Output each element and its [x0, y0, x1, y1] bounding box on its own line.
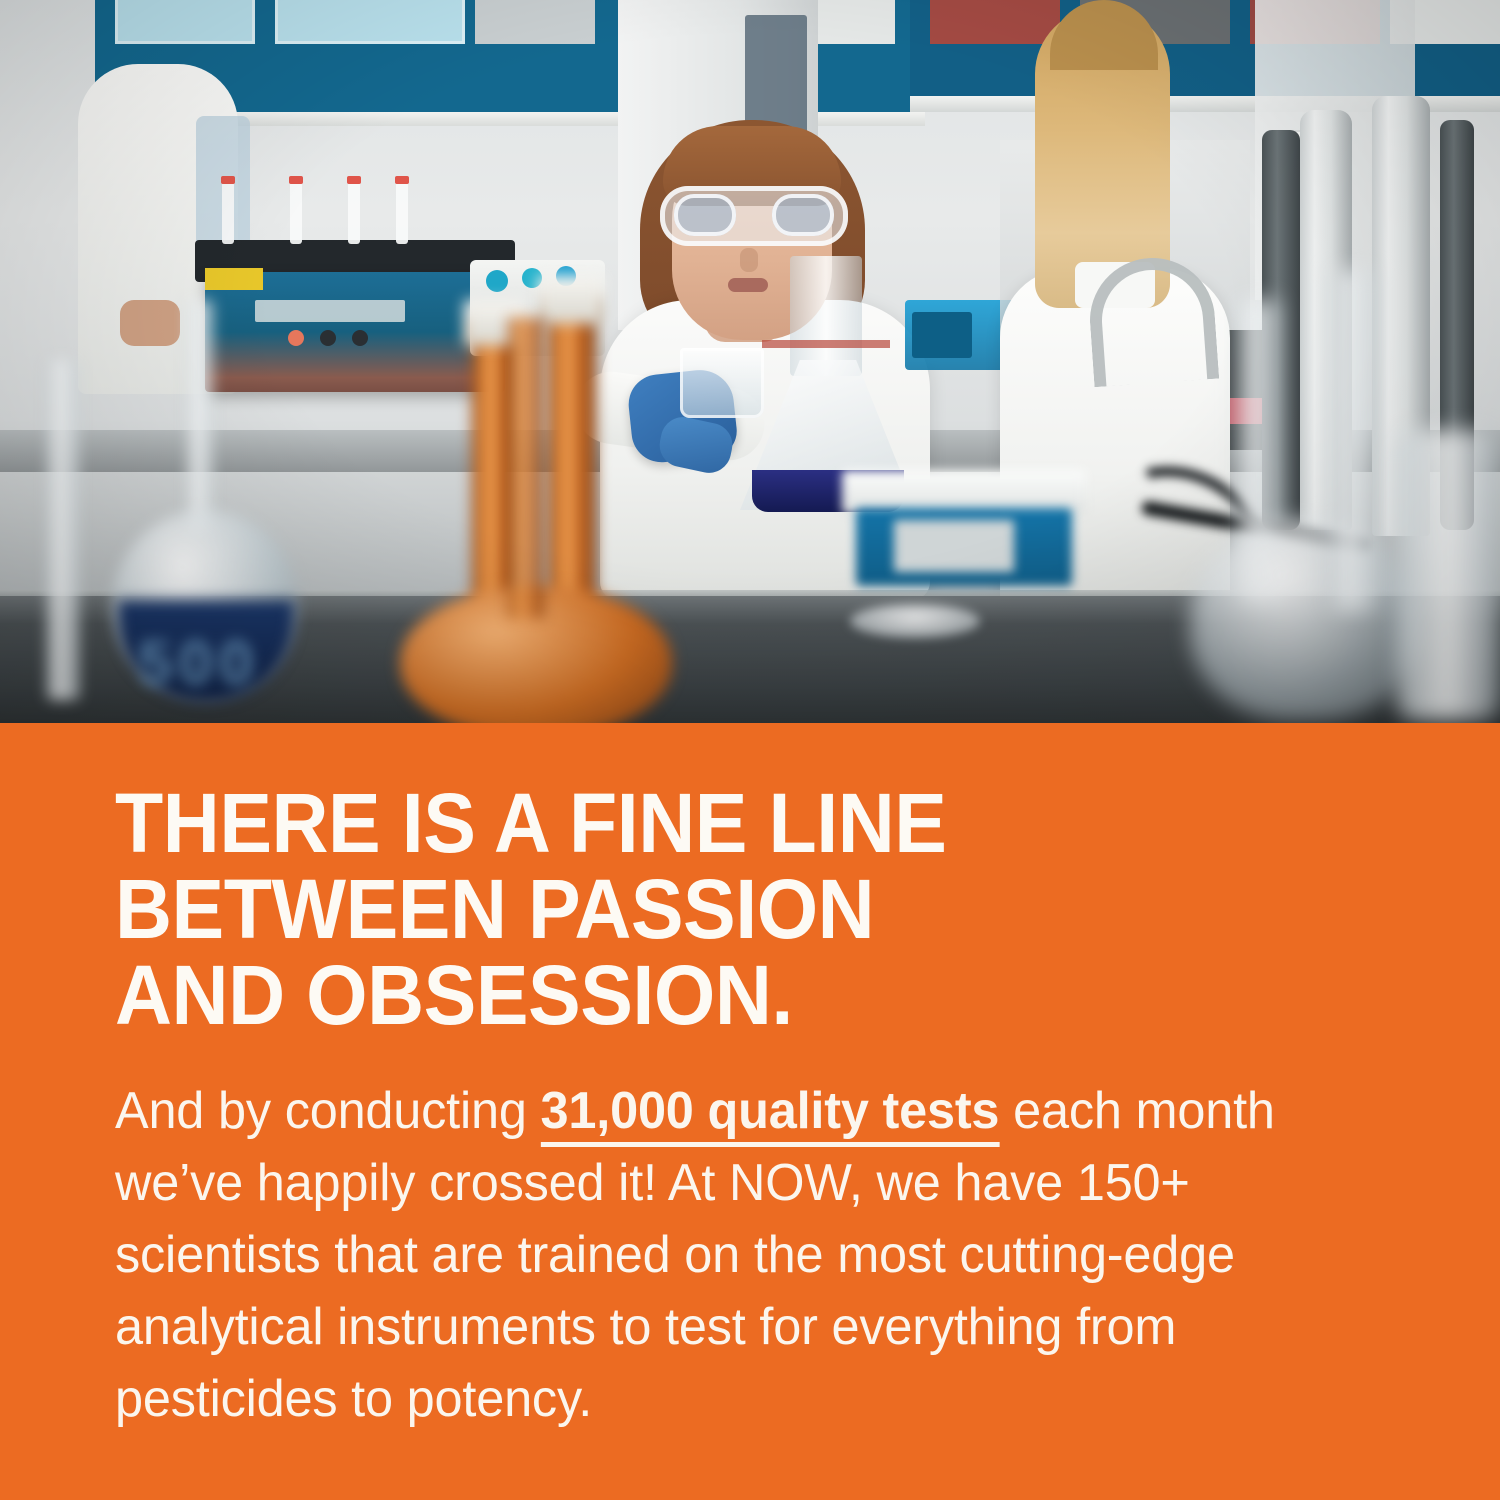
body-copy-intro: And by conducting: [115, 1082, 541, 1140]
page-title: THERE IS A FINE LINE BETWEEN PASSION AND…: [115, 780, 1299, 1038]
stat-highlight-quality-tests: 31,000 quality tests: [541, 1082, 1000, 1147]
laboratory-photo: 500: [0, 0, 1500, 723]
marketing-poster: 500 THERE IS A FINE LINE BETWEEN PASSION…: [0, 0, 1500, 1500]
body-copy: And by conducting 31,000 quality tests e…: [115, 1075, 1347, 1435]
orange-message-panel: THERE IS A FINE LINE BETWEEN PASSION AND…: [0, 723, 1500, 1500]
photo-vignette: [0, 0, 1500, 723]
